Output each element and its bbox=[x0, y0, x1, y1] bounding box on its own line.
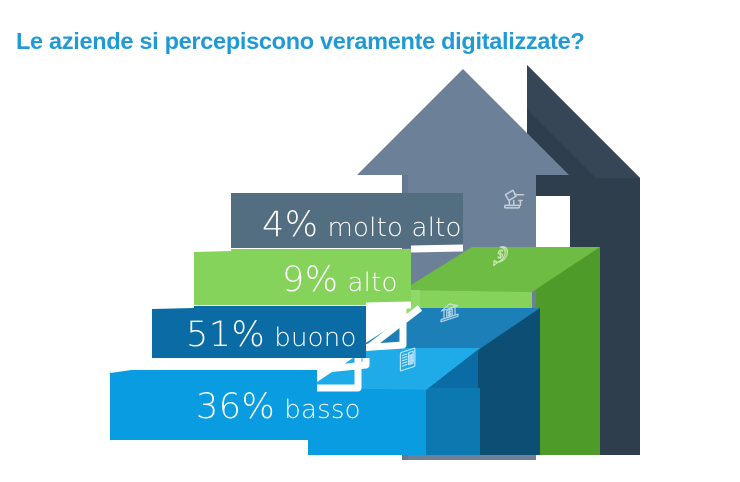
step-label-basso: 36% basso bbox=[196, 390, 361, 425]
step-percent-basso: 36% bbox=[196, 390, 275, 425]
step-word-buono: buono bbox=[274, 325, 356, 351]
step-percent-buono: 51% bbox=[186, 318, 265, 353]
infographic-canvas: Le aziende si percepiscono veramente dig… bbox=[0, 0, 740, 482]
step-word-molto-alto: molto alto bbox=[328, 215, 462, 241]
step-word-basso: basso bbox=[284, 397, 360, 423]
step-percent-alto: 9% bbox=[282, 263, 339, 298]
step-percent-molto-alto: 4% bbox=[262, 208, 319, 243]
page-title: Le aziende si percepiscono veramente dig… bbox=[16, 28, 726, 55]
step-word-alto: alto bbox=[348, 270, 398, 296]
step-label-alto: 9% alto bbox=[282, 263, 398, 298]
step-label-buono: 51% buono bbox=[186, 318, 357, 353]
step-label-molto-alto: 4% molto alto bbox=[262, 208, 462, 243]
